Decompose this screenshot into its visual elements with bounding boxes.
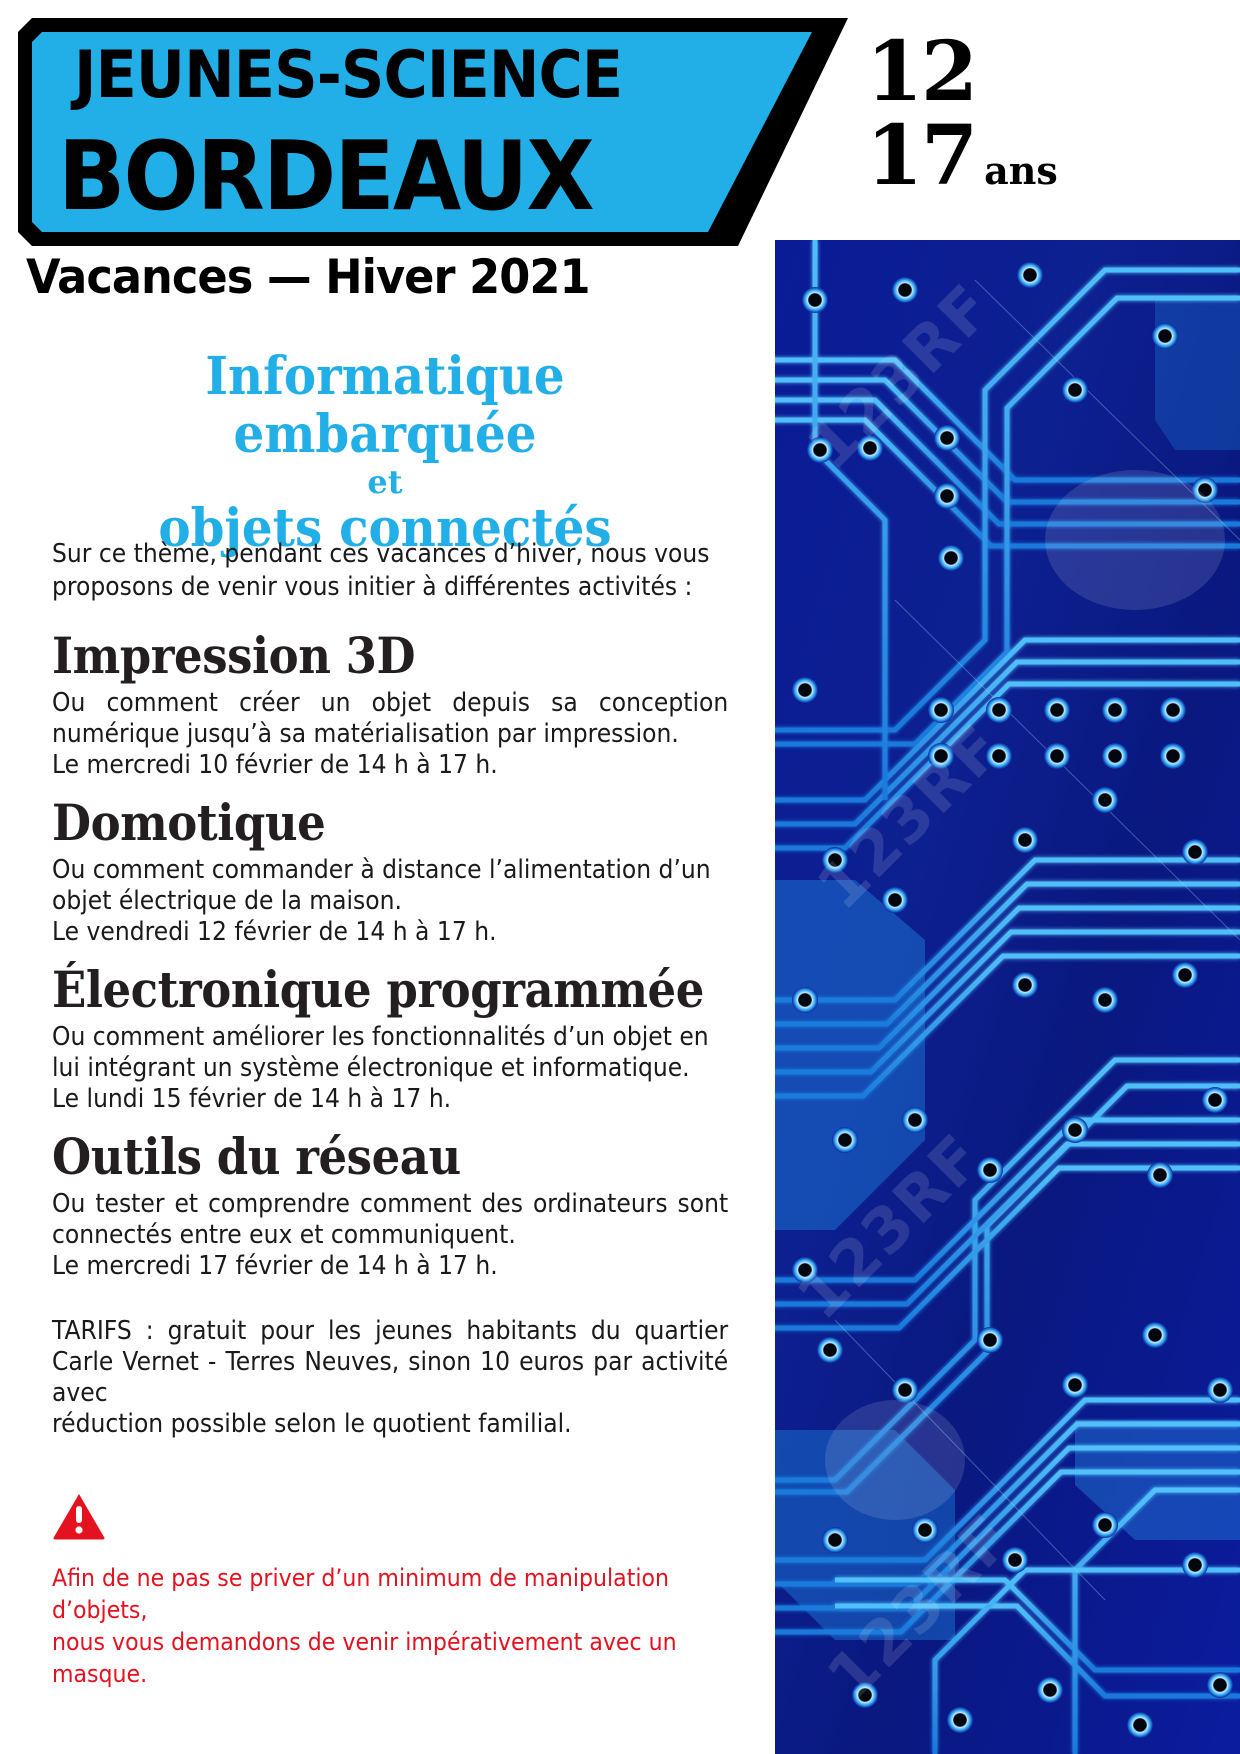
activity-description: Ou comment améliorer les fonctionnalités… (52, 1022, 728, 1084)
activity-description: Ou comment commander à distance l’alimen… (52, 855, 728, 917)
activity-description: Ou comment créer un objet depuis sa conc… (52, 688, 728, 749)
logo-line-jeunes-science: JEUNES-SCIENCE (74, 42, 622, 110)
mask-warning-line-1: Afin de ne pas se priver d’un minimum de… (52, 1564, 669, 1624)
activity-description-block: Ou tester et comprendre comment des ordi… (52, 1189, 728, 1282)
activity-heading: Outils du réseau (52, 1125, 660, 1189)
mask-warning-text: Afin de ne pas se priver d’un minimum de… (52, 1562, 728, 1690)
season-subtitle: Vacances — Hiver 2021 (26, 252, 590, 304)
activity-item: Impression 3D Ou comment créer un objet … (52, 624, 728, 781)
organization-logo: JEUNES-SCIENCE BORDEAUX (18, 18, 858, 246)
activity-heading: Électronique programmée (52, 958, 660, 1022)
activity-description-block: Ou comment commander à distance l’alimen… (52, 855, 728, 948)
page-title-line-1: Informatique embarquée (46, 348, 725, 464)
intro-paragraph: Sur ce thème, pendant ces vacances d’hiv… (52, 538, 728, 604)
activity-schedule: Le vendredi 12 février de 14 h à 17 h. (52, 917, 728, 948)
activity-schedule: Le mercredi 17 février de 14 h à 17 h. (52, 1251, 728, 1282)
activity-description-block: Ou comment améliorer les fonctionnalités… (52, 1022, 728, 1115)
pricing-text: TARIFS : gratuit pour les jeunes habitan… (52, 1316, 728, 1408)
logo-line-bordeaux: BORDEAUX (58, 128, 593, 226)
activity-heading: Domotique (52, 791, 660, 855)
age-min: 12 (866, 30, 1106, 114)
page-title-line-2: et (20, 464, 750, 500)
warning-triangle-icon (52, 1492, 106, 1540)
mask-warning-line-2: nous vous demandons de venir impérativem… (52, 1628, 677, 1688)
age-unit-label: ans (984, 151, 1058, 191)
activity-schedule: Le mercredi 10 février de 14 h à 17 h. (52, 750, 728, 781)
circuit-board-graphic (775, 240, 1240, 1754)
activity-item: Domotique Ou comment commander à distanc… (52, 791, 728, 948)
age-range-badge: 12 17 ans (866, 30, 1106, 198)
activity-heading: Impression 3D (52, 624, 660, 688)
activity-schedule: Le lundi 15 février de 14 h à 17 h. (52, 1084, 728, 1115)
pricing-paragraph: TARIFS : gratuit pour les jeunes habitan… (52, 1316, 728, 1440)
circuit-board-image: 123RF 123RF 123RF 123RF (775, 240, 1240, 1754)
activity-description-block: Ou comment créer un objet depuis sa conc… (52, 688, 728, 781)
activity-item: Électronique programmée Ou comment améli… (52, 958, 728, 1115)
activity-description: Ou tester et comprendre comment des ordi… (52, 1189, 728, 1250)
content-column: Sur ce thème, pendant ces vacances d’hiv… (52, 538, 728, 1690)
age-max-row: 17 ans (866, 114, 1106, 198)
pricing-text-last-line: réduction possible selon le quotient fam… (52, 1409, 728, 1440)
age-max: 17 (866, 114, 976, 198)
activity-item: Outils du réseau Ou tester et comprendre… (52, 1125, 728, 1282)
page-title: Informatique embarquée et objets connect… (20, 348, 750, 558)
